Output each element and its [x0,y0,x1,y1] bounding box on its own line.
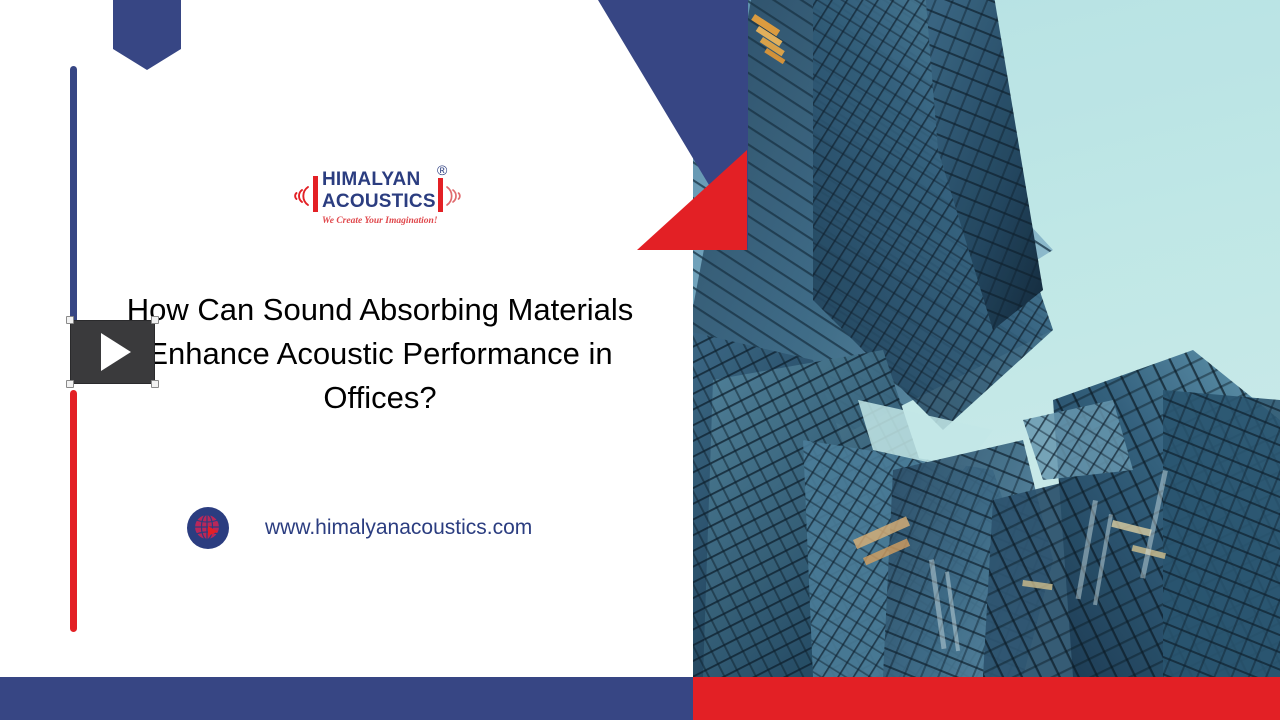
resize-handle-bottom-left[interactable] [66,380,74,388]
page-title: How Can Sound Absorbing Materials Enhanc… [120,288,640,420]
presentation-slide: HIMALYAN ACOUSTICS ® We Create Your Imag… [0,0,1280,720]
blue-pentagon-banner [113,0,181,70]
website-url[interactable]: www.himalyanacoustics.com [265,516,532,540]
building-photo [693,0,1280,677]
resize-handle-top-right[interactable] [151,316,159,324]
video-frame[interactable] [70,320,155,384]
resize-handle-bottom-right[interactable] [151,380,159,388]
logo-red-bar-right [438,178,443,212]
company-logo: HIMALYAN ACOUSTICS ® We Create Your Imag… [288,168,463,228]
building-photo-svg [693,0,1280,677]
registered-mark: ® [437,162,447,178]
website-row[interactable]: www.himalyanacoustics.com [186,506,532,550]
red-vertical-rule [70,390,77,632]
video-play-overlay[interactable] [66,316,159,388]
red-corner-triangle [637,150,747,250]
sound-wave-left-icon [288,182,312,210]
sound-wave-right-icon [444,182,466,210]
resize-handle-top-left[interactable] [66,316,74,324]
globe-icon[interactable] [186,506,230,550]
logo-tagline: We Create Your Imagination! [322,216,438,226]
blue-vertical-rule [70,66,77,328]
logo-red-bar-left [313,176,318,212]
play-icon[interactable] [101,333,131,371]
logo-wordmark: HIMALYAN ACOUSTICS [322,170,434,211]
red-footer-bar [693,677,1280,720]
blue-footer-bar [0,677,693,720]
logo-name-line1: HIMALYAN [322,170,434,189]
logo-name-line2: ACOUSTICS [322,192,434,211]
